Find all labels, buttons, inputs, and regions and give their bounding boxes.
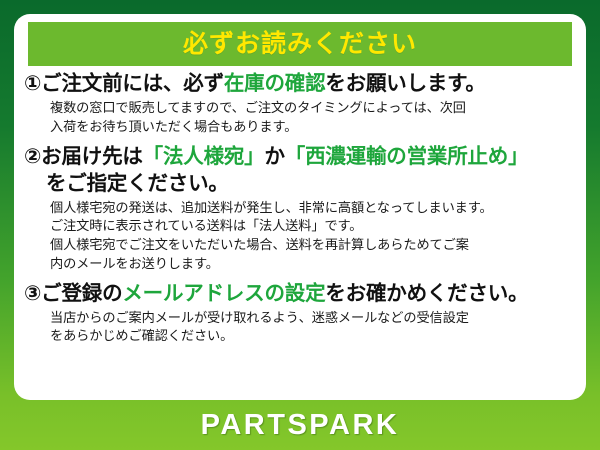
notice-item-1-heading-after: をお願いします。 (325, 72, 485, 95)
notice-item-1-body: 複数の窓口で販売してますので、ご注文のタイミングによっては、次回 入荷をお待ち頂… (24, 99, 578, 136)
notice-items-list: ①ご注文前には、必ず在庫の確認をお願いします。 複数の窓口で販売してますので、ご… (14, 70, 586, 352)
notice-item-3: ③ご登録のメールアドレスの設定をお確かめください。 当店からのご案内メールが受け… (24, 280, 578, 347)
notice-item-2-body-line-1: 個人様宅宛の発送は、追加送料が発生し、非常に高額となってしまいます。 (50, 199, 578, 218)
notice-item-2-body: 個人様宅宛の発送は、追加送料が発生し、非常に高額となってしまいます。 ご注文時に… (24, 199, 578, 274)
notice-item-2-heading: ②お届け先は「法人様宛」か「西濃運輸の営業所止め」 (24, 143, 578, 170)
notice-item-1-body-line-2: 入荷をお待ち頂いただく場合もあります。 (50, 118, 578, 137)
title-banner: 必ずお読みください (28, 22, 572, 66)
notice-item-2-body-line-2: ご注文時に表示されている送料は「法人送料」です。 (50, 217, 578, 236)
notice-item-3-body-line-1: 当店からのご案内メールが受け取れるよう、迷惑メールなどの受信設定 (50, 309, 578, 328)
notice-item-2-heading-highlight-2: 「西濃運輸の営業所止め」 (285, 145, 529, 168)
page-title: 必ずお読みください (183, 32, 417, 57)
notice-item-1: ①ご注文前には、必ず在庫の確認をお願いします。 複数の窓口で販売してますので、ご… (24, 70, 578, 137)
notice-item-1-body-line-1: 複数の窓口で販売してますので、ご注文のタイミングによっては、次回 (50, 99, 578, 118)
notice-panel: 必ずお読みください ①ご注文前には、必ず在庫の確認をお願いします。 複数の窓口で… (14, 14, 586, 400)
notice-item-1-heading-before: ご注文前には、必ず (41, 72, 224, 95)
notice-item-3-body-line-2: をあらかじめご確認ください。 (50, 327, 578, 346)
footer-brand-bar: PARTSPARK (0, 400, 600, 450)
notice-item-2-body-line-4: 内のメールをお送りします。 (50, 255, 578, 274)
notice-item-3-marker: ③ (24, 282, 41, 305)
notice-item-2-heading-before: お届け先は (41, 145, 143, 168)
notice-item-3-heading-before: ご登録の (41, 282, 122, 305)
notice-item-3-heading: ③ご登録のメールアドレスの設定をお確かめください。 (24, 280, 578, 307)
notice-item-2-heading-highlight: 「法人様宛」 (143, 145, 265, 168)
notice-item-1-marker: ① (24, 72, 41, 95)
notice-item-3-heading-highlight: メールアドレスの設定 (122, 282, 325, 305)
brand-name: PARTSPARK (201, 409, 400, 442)
notice-item-1-heading-highlight: 在庫の確認 (224, 72, 326, 95)
notice-item-2-marker: ② (24, 145, 41, 168)
notice-poster: 必ずお読みください ①ご注文前には、必ず在庫の確認をお願いします。 複数の窓口で… (0, 0, 600, 450)
notice-item-2-heading-line-2: をご指定ください。 (24, 170, 578, 197)
notice-item-3-heading-after: をお確かめください。 (325, 282, 528, 305)
notice-item-3-body: 当店からのご案内メールが受け取れるよう、迷惑メールなどの受信設定 をあらかじめご… (24, 309, 578, 346)
notice-item-1-heading: ①ご注文前には、必ず在庫の確認をお願いします。 (24, 70, 578, 97)
notice-item-2-body-line-3: 個人様宅宛でご注文をいただいた場合、送料を再計算しあらためてご案 (50, 236, 578, 255)
notice-item-2: ②お届け先は「法人様宛」か「西濃運輸の営業所止め」 をご指定ください。 個人様宅… (24, 143, 578, 274)
notice-item-2-heading-middle: か (264, 145, 284, 168)
